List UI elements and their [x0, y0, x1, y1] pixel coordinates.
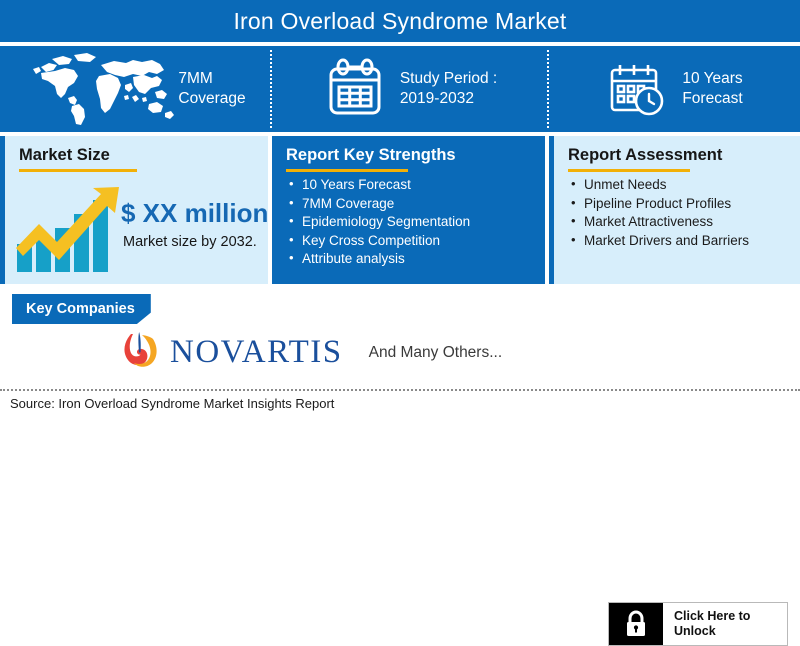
calendar-icon	[324, 58, 386, 120]
world-map-icon	[26, 50, 178, 128]
novartis-flame-icon	[120, 328, 160, 377]
source-note: Source: Iron Overload Syndrome Market In…	[10, 396, 334, 411]
and-many-others-label: And Many Others...	[369, 344, 503, 362]
key-strengths-heading: Report Key Strengths	[286, 146, 545, 165]
company-logo-row: NOVARTIS And Many Others...	[120, 328, 502, 377]
market-size-subtitle: Market size by 2032.	[123, 234, 257, 250]
key-strengths-underline	[286, 169, 408, 172]
band-cell-forecast: 10 Years Forecast	[549, 46, 800, 132]
band-label-study-line2: 2019-2032	[400, 89, 497, 109]
lock-icon	[609, 603, 663, 645]
band-label-forecast-line1: 10 Years	[682, 69, 742, 89]
assessment-heading: Report Assessment	[568, 146, 800, 165]
key-companies-section: Key Companies NOVARTIS And Many Others..…	[0, 284, 800, 388]
unlock-button-label: Click Here to Unlock	[663, 603, 787, 645]
unlock-label-line1: Click Here to	[674, 609, 750, 623]
unlock-button[interactable]: Click Here to Unlock	[608, 602, 788, 646]
panel-key-strengths: Report Key Strengths 10 Years Forecast 7…	[272, 136, 545, 284]
panels-row: Market Size $ XX million	[0, 136, 800, 284]
market-size-underline	[19, 169, 137, 172]
market-size-visual: $ XX million Market size by 2032.	[13, 184, 271, 276]
assessment-underline	[568, 169, 690, 172]
list-item: Market Drivers and Barriers	[584, 232, 800, 251]
footer-divider	[0, 389, 800, 391]
market-size-amount: $ XX million	[121, 198, 268, 229]
key-strengths-list: 10 Years Forecast 7MM Coverage Epidemiol…	[272, 176, 545, 269]
assessment-list: Unmet Needs Pipeline Product Profiles Ma…	[554, 176, 800, 250]
band-label-coverage: 7MM Coverage	[178, 69, 245, 109]
band-label-coverage-line1: 7MM	[178, 69, 245, 89]
calendar-clock-icon	[606, 58, 668, 120]
list-item: Epidemiology Segmentation	[302, 213, 545, 232]
list-item: 7MM Coverage	[302, 195, 545, 214]
list-item: Attribute analysis	[302, 250, 545, 269]
key-companies-badge: Key Companies	[12, 294, 151, 324]
novartis-wordmark: NOVARTIS	[170, 334, 343, 371]
market-size-heading: Market Size	[19, 146, 268, 165]
panel-report-assessment: Report Assessment Unmet Needs Pipeline P…	[549, 136, 800, 284]
bar-chart-growth-arrow-icon	[15, 186, 123, 279]
list-item: Pipeline Product Profiles	[584, 195, 800, 214]
band-cell-coverage: 7MM Coverage	[0, 46, 272, 132]
band-label-coverage-line2: Coverage	[178, 89, 245, 109]
list-item: Key Cross Competition	[302, 232, 545, 251]
band-label-forecast: 10 Years Forecast	[682, 69, 742, 109]
unlock-label-line2: Unlock	[674, 624, 716, 638]
band-label-forecast-line2: Forecast	[682, 89, 742, 109]
page-title: Iron Overload Syndrome Market	[233, 8, 566, 35]
list-item: Market Attractiveness	[584, 213, 800, 232]
infographic-root: Iron Overload Syndrome Market	[0, 0, 800, 420]
list-item: 10 Years Forecast	[302, 176, 545, 195]
highlights-band: 7MM Coverage	[0, 46, 800, 132]
band-cell-study-period: Study Period : 2019-2032	[272, 46, 549, 132]
list-item: Unmet Needs	[584, 176, 800, 195]
band-label-study-period: Study Period : 2019-2032	[400, 69, 497, 109]
band-label-study-line1: Study Period :	[400, 69, 497, 89]
title-bar: Iron Overload Syndrome Market	[0, 0, 800, 42]
panel-market-size: Market Size $ XX million	[0, 136, 268, 284]
